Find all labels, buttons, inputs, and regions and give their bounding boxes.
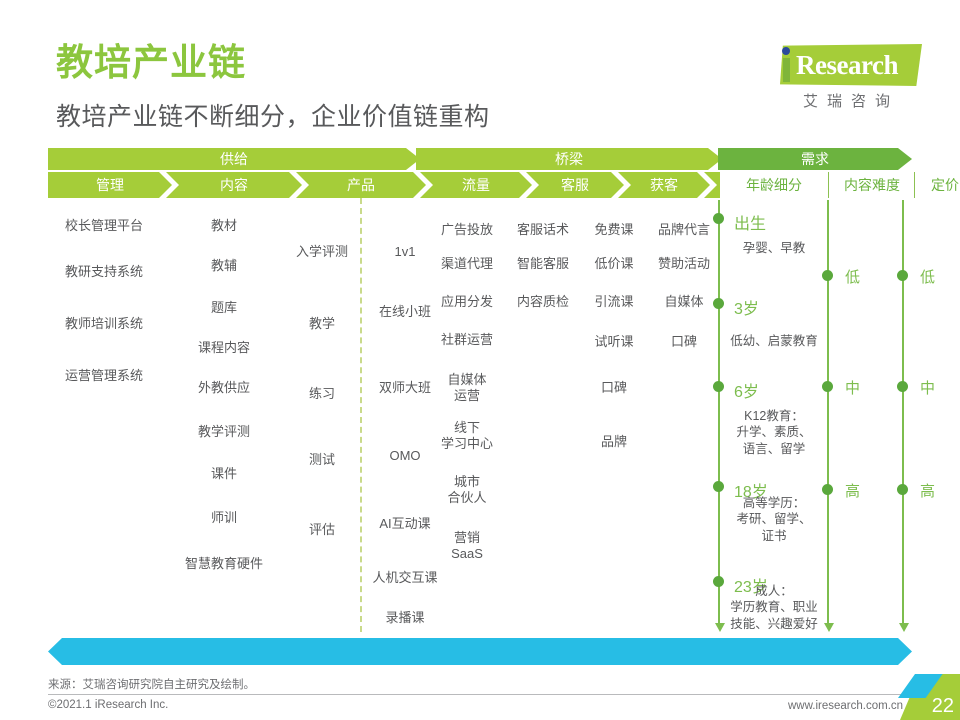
content-item: 教学评测 bbox=[168, 424, 280, 440]
pricing-node-dot-icon bbox=[897, 270, 908, 281]
brand-item: 赞助活动 bbox=[644, 256, 724, 272]
difficulty-node-dot-icon bbox=[822, 484, 833, 495]
difficulty-node-dot-icon bbox=[822, 270, 833, 281]
traffic-item: 线下学习中心 bbox=[424, 420, 510, 452]
content-item: 课程内容 bbox=[168, 340, 280, 356]
manage-item: 教师培训系统 bbox=[48, 316, 160, 332]
content-item: 教材 bbox=[168, 218, 280, 234]
content-process-item: 评估 bbox=[278, 522, 366, 538]
age-node-label: 出生 bbox=[734, 210, 766, 234]
band-supply-label: 供给 bbox=[48, 148, 420, 170]
acquire-item: 低价课 bbox=[578, 256, 650, 272]
manage-item: 教研支持系统 bbox=[48, 264, 160, 280]
chevron-content[interactable]: 内容 bbox=[166, 172, 302, 198]
banner-video-service: 视频服务：钉钉、腾讯会议、保利威 bbox=[620, 0, 844, 27]
acquire-item: 口碑 bbox=[578, 380, 650, 396]
timeline-node-dot-icon bbox=[713, 481, 724, 492]
traffic-item: 自媒体运营 bbox=[424, 372, 510, 404]
acquire-item: 免费课 bbox=[578, 222, 650, 238]
service-item: 客服话术 bbox=[500, 222, 586, 238]
age-segment-text: 成人：学历教育、职业技能、兴趣爱好 bbox=[722, 583, 826, 632]
slide-root: 教培产业链 教培产业链不断细分，企业价值链重构 Research 艾瑞咨询 供给… bbox=[0, 0, 960, 720]
acquire-item: 引流课 bbox=[578, 294, 650, 310]
chevron-manage[interactable]: 管理 bbox=[48, 172, 172, 198]
acquire-item: 品牌 bbox=[578, 434, 650, 450]
age-segment-text: 高等学历：考研、留学、证书 bbox=[722, 495, 826, 544]
traffic-item: 城市合伙人 bbox=[424, 474, 510, 506]
service-item: 智能客服 bbox=[500, 256, 586, 272]
content-process-item: 测试 bbox=[278, 452, 366, 468]
traffic-item: 社群运营 bbox=[424, 332, 510, 348]
logo-chinese-name: 艾瑞咨询 bbox=[780, 90, 922, 111]
source-note: 来源：艾瑞咨询研究院自主研究及绘制。 bbox=[48, 676, 255, 692]
age-segment-text: 孕婴、早教 bbox=[722, 240, 826, 256]
footer-divider bbox=[48, 694, 912, 695]
traffic-item: 广告投放 bbox=[424, 222, 510, 238]
copyright: ©2021.1 iResearch Inc. bbox=[48, 699, 168, 711]
product-divider bbox=[360, 198, 362, 632]
logo-wordmark: Research bbox=[796, 50, 920, 81]
iresearch-logo: Research 艾瑞咨询 bbox=[766, 44, 922, 112]
content-item: 外教供应 bbox=[168, 380, 280, 396]
banner-cloud-service: 云服务：阿里云、腾讯云等 bbox=[110, 0, 278, 27]
page-subtitle: 教培产业链不断细分，企业价值链重构 bbox=[56, 104, 490, 132]
content-item: 师训 bbox=[168, 510, 280, 526]
content-item: 智慧教育硬件 bbox=[168, 556, 280, 572]
traffic-item: 营销SaaS bbox=[424, 530, 510, 562]
content-process-item: 练习 bbox=[278, 386, 366, 402]
band-demand: 需求 bbox=[718, 148, 912, 170]
content-item: 题库 bbox=[168, 300, 280, 316]
chevron-service[interactable]: 客服 bbox=[526, 172, 624, 198]
chevron-row: 管理 内容 产品 流量 客服 获客 品牌 年龄细分 内容难度 定价 bbox=[48, 172, 912, 198]
traffic-item: 应用分发 bbox=[424, 294, 510, 310]
timeline-node-dot-icon bbox=[713, 213, 724, 224]
timeline-age-axis bbox=[718, 200, 720, 624]
brand-item: 品牌代言 bbox=[644, 222, 724, 238]
age-segment-text: K12教育：升学、素质、语言、留学 bbox=[722, 408, 826, 457]
logo-i-dot-icon bbox=[782, 47, 790, 55]
pricing-node-dot-icon bbox=[897, 484, 908, 495]
age-node-label: 6岁 bbox=[734, 378, 759, 402]
age-segment-text: 低幼、启蒙教育 bbox=[722, 333, 826, 349]
page-number: 22 bbox=[932, 695, 954, 718]
service-item: 内容质检 bbox=[500, 294, 586, 310]
content-item: 教辅 bbox=[168, 258, 280, 274]
difficulty-node-dot-icon bbox=[822, 381, 833, 392]
acquire-item: 试听课 bbox=[578, 334, 650, 350]
pricing-level-label: 中 bbox=[920, 377, 935, 398]
pricing-node-dot-icon bbox=[897, 381, 908, 392]
manage-item: 运营管理系统 bbox=[48, 368, 160, 384]
logo-i-stem-icon bbox=[783, 58, 790, 82]
timeline-difficulty-axis bbox=[827, 200, 829, 624]
timeline-node-dot-icon bbox=[713, 298, 724, 309]
band-bridge: 桥梁 bbox=[416, 148, 722, 170]
chevron-pricing[interactable]: 定价 bbox=[914, 172, 960, 198]
chevron-difficulty[interactable]: 内容难度 bbox=[828, 172, 915, 198]
banner-ai-tech: AI技术：商汤科技、科大讯飞等 bbox=[372, 0, 567, 27]
chevron-product[interactable]: 产品 bbox=[296, 172, 426, 198]
content-process-item: 入学评测 bbox=[278, 244, 366, 260]
timeline-pricing-axis bbox=[902, 200, 904, 624]
band-supply: 供给 bbox=[48, 148, 420, 170]
pricing-level-label: 高 bbox=[920, 480, 935, 501]
band-bridge-label: 桥梁 bbox=[416, 148, 722, 170]
band-demand-label: 需求 bbox=[718, 148, 912, 170]
content-process-item: 教学 bbox=[278, 316, 366, 332]
product-item: 人机交互课 bbox=[362, 570, 448, 586]
traffic-item: 渠道代理 bbox=[424, 256, 510, 272]
pricing-level-label: 低 bbox=[920, 266, 935, 287]
timeline-node-dot-icon bbox=[713, 381, 724, 392]
chevron-age-segment[interactable]: 年龄细分 bbox=[720, 172, 828, 198]
chevron-acquire[interactable]: 获客 bbox=[618, 172, 710, 198]
age-node-label: 3岁 bbox=[734, 295, 759, 319]
difficulty-level-label: 高 bbox=[845, 480, 860, 501]
manage-item: 校长管理平台 bbox=[48, 218, 160, 234]
content-item: 课件 bbox=[168, 466, 280, 482]
difficulty-level-label: 中 bbox=[845, 377, 860, 398]
brand-item: 口碑 bbox=[644, 334, 724, 350]
infrastructure-banner bbox=[48, 638, 912, 665]
product-item: 录播课 bbox=[362, 610, 448, 626]
page-title: 教培产业链 bbox=[56, 44, 246, 83]
difficulty-level-label: 低 bbox=[845, 266, 860, 287]
brand-item: 自媒体 bbox=[644, 294, 724, 310]
chevron-traffic[interactable]: 流量 bbox=[420, 172, 532, 198]
